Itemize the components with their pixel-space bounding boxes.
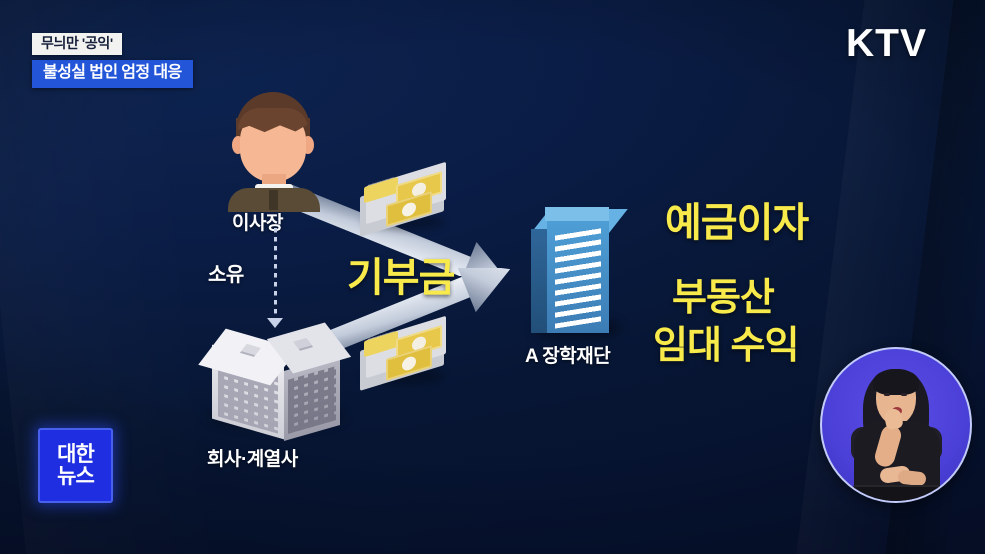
connector-label-ownership: 소유 bbox=[208, 258, 244, 287]
node-label-foundation: A 장학재단 bbox=[525, 341, 610, 368]
money-stack-icon-bottom bbox=[356, 312, 452, 386]
money-stack-icon-top bbox=[356, 158, 452, 232]
lower-third-title-block: 무늬만 '공익' 불성실 법인 엄정 대응 bbox=[32, 33, 193, 88]
title-kicker: 무늬만 '공익' bbox=[32, 33, 122, 55]
daehan-news-logo: 대한 뉴스 bbox=[38, 428, 113, 503]
outcome-label-interest: 예금이자 bbox=[665, 190, 808, 248]
connector-label-donation: 기부금 bbox=[347, 245, 454, 303]
node-label-company: 회사·계열사 bbox=[207, 444, 298, 471]
person-icon bbox=[222, 92, 326, 204]
sign-language-interpreter-inset bbox=[820, 347, 972, 503]
tower-building-icon bbox=[529, 197, 621, 337]
outcome-label-realestate: 부동산 bbox=[672, 266, 774, 321]
title-headline: 불성실 법인 엄정 대응 bbox=[32, 60, 193, 87]
office-building-icon bbox=[200, 325, 352, 437]
ownership-dotted-line bbox=[274, 228, 277, 320]
outcome-label-rental: 임대 수익 bbox=[653, 314, 798, 369]
ktv-channel-logo: KTV bbox=[846, 22, 927, 66]
broadcast-screen: 무늬만 '공익' 불성실 법인 엄정 대응 KTV bbox=[0, 0, 985, 554]
news-logo-line2: 뉴스 bbox=[57, 466, 94, 487]
news-logo-line1: 대한 bbox=[57, 444, 94, 465]
